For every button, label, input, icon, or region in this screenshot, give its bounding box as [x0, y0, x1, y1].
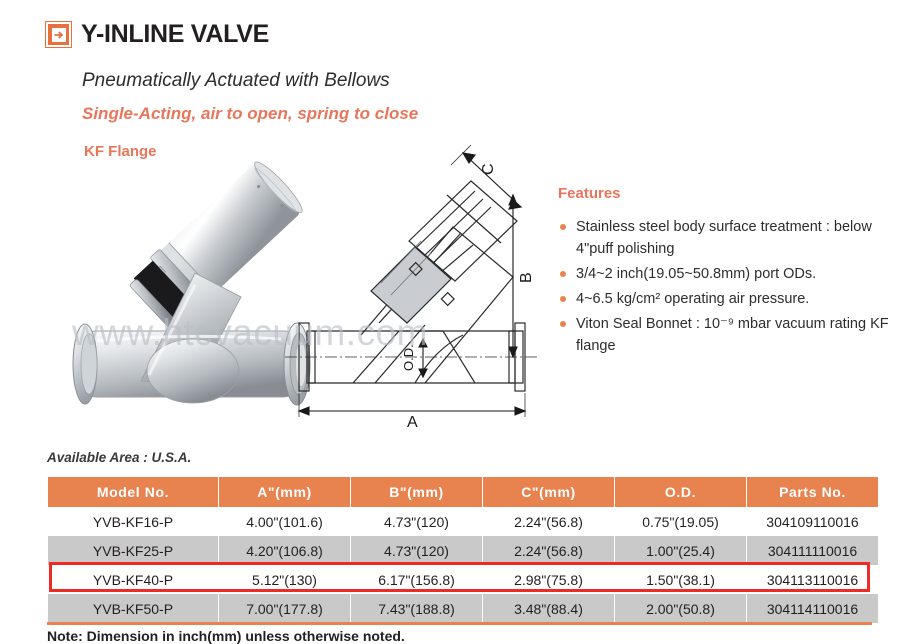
cell-model: YVB-KF25-P [48, 536, 218, 565]
column-header-parts: Parts No. [747, 477, 878, 507]
table-row-highlighted: YVB-KF40-P 5.12"(130) 6.17"(156.8) 2.98"… [48, 565, 878, 594]
table-header-row: Model No. A"(mm) B"(mm) C"(mm) O.D. Part… [48, 477, 878, 507]
features-list: Stainless steel body surface treatment :… [558, 216, 898, 357]
column-header-a: A"(mm) [219, 477, 350, 507]
feature-item: Stainless steel body surface treatment :… [558, 216, 898, 260]
dimension-label-b: B [518, 272, 535, 283]
cell-a: 7.00"(177.8) [219, 594, 350, 623]
column-header-model: Model No. [48, 477, 218, 507]
page-header: Y-INLINE VALVE [46, 20, 269, 49]
column-header-b: B"(mm) [351, 477, 482, 507]
available-area-label: Available Area : U.S.A. [47, 450, 191, 465]
cell-model: YVB-KF40-P [48, 565, 218, 594]
table-bottom-rule [47, 622, 872, 625]
cell-od: 1.50"(38.1) [615, 565, 746, 594]
table-note: Note: Dimension in inch(mm) unless other… [47, 628, 405, 644]
feature-item: Viton Seal Bonnet : 10⁻⁹ mbar vacuum rat… [558, 313, 898, 357]
product-artwork: A B C O.D. [45, 135, 555, 435]
cell-model: YVB-KF16-P [48, 507, 218, 536]
feature-item: 3/4~2 inch(19.05~50.8mm) port ODs. [558, 263, 898, 285]
page-tagline: Single-Acting, air to open, spring to cl… [82, 104, 418, 124]
table-row: YVB-KF25-P 4.20"(106.8) 4.73"(120) 2.24"… [48, 536, 878, 565]
dimension-label-od: O.D. [401, 344, 416, 371]
cell-od: 1.00"(25.4) [615, 536, 746, 565]
features-heading: Features [558, 185, 898, 202]
arrow-right-icon [46, 22, 71, 47]
cell-c: 2.98"(75.8) [483, 565, 614, 594]
cell-a: 4.20"(106.8) [219, 536, 350, 565]
specification-table: Model No. A"(mm) B"(mm) C"(mm) O.D. Part… [47, 477, 872, 623]
cell-b: 4.73"(120) [351, 536, 482, 565]
dimension-label-c: C [480, 163, 497, 175]
cell-parts: 304109110016 [747, 507, 878, 536]
table-row: YVB-KF16-P 4.00"(101.6) 4.73"(120) 2.24"… [48, 507, 878, 536]
dimension-label-a: A [407, 414, 418, 431]
page-title: Y-INLINE VALVE [81, 20, 269, 49]
cell-model: YVB-KF50-P [48, 594, 218, 623]
cell-parts: 304113110016 [747, 565, 878, 594]
cell-b: 4.73"(120) [351, 507, 482, 536]
dimension-drawing: A B C O.D. [275, 135, 555, 435]
cell-a: 4.00"(101.6) [219, 507, 350, 536]
features-section: Features Stainless steel body surface tr… [558, 185, 898, 360]
page-subtitle: Pneumatically Actuated with Bellows [82, 70, 390, 92]
column-header-c: C"(mm) [483, 477, 614, 507]
cell-c: 2.24"(56.8) [483, 507, 614, 536]
cell-a: 5.12"(130) [219, 565, 350, 594]
cell-parts: 304114110016 [747, 594, 878, 623]
cell-b: 6.17"(156.8) [351, 565, 482, 594]
column-header-od: O.D. [615, 477, 746, 507]
cell-c: 2.24"(56.8) [483, 536, 614, 565]
cell-parts: 304111110016 [747, 536, 878, 565]
table-row: YVB-KF50-P 7.00"(177.8) 7.43"(188.8) 3.4… [48, 594, 878, 623]
feature-item: 4~6.5 kg/cm² operating air pressure. [558, 288, 898, 310]
cell-c: 3.48"(88.4) [483, 594, 614, 623]
cell-od: 0.75"(19.05) [615, 507, 746, 536]
cell-od: 2.00"(50.8) [615, 594, 746, 623]
cell-b: 7.43"(188.8) [351, 594, 482, 623]
